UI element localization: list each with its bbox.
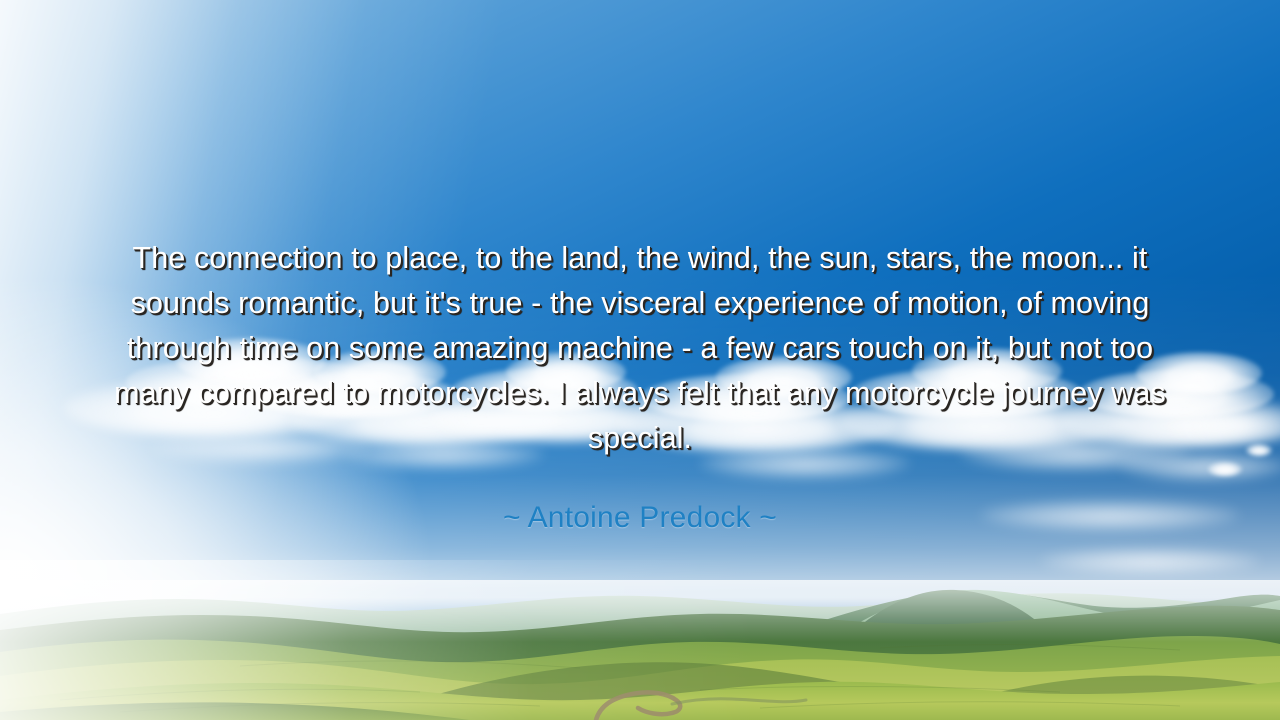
quote-text: The connection to place, to the land, th… [110,236,1170,461]
land-left-haze [0,560,760,720]
quote-attribution: ~ Antoine Predock ~ [110,461,1170,536]
quote-block: The connection to place, to the land, th… [110,236,1170,536]
quote-wallpaper-image: The connection to place, to the land, th… [0,0,1280,720]
